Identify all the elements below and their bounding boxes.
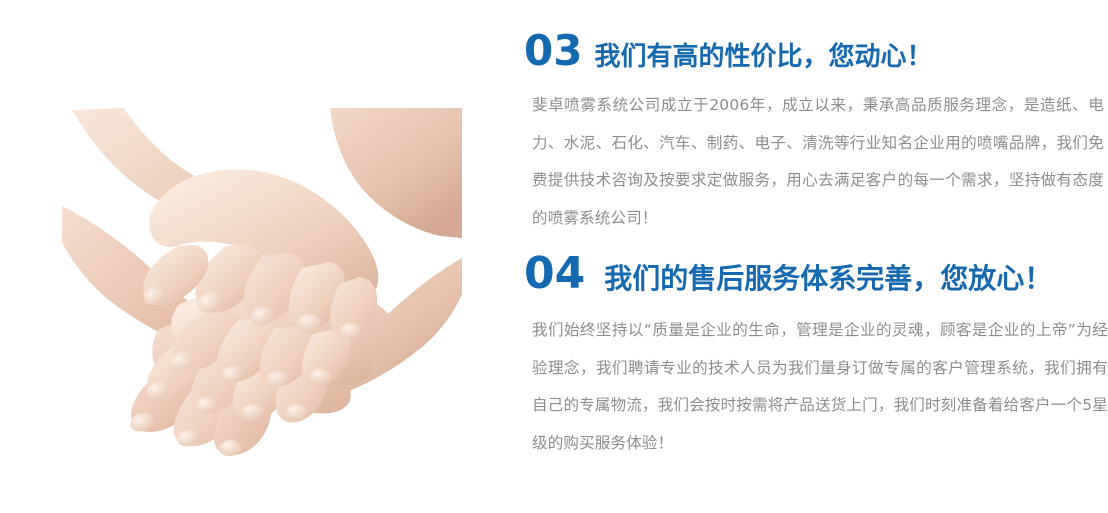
feature-title-04: 我们的售后服务体系完善，您放心！: [604, 265, 1052, 293]
promo-banner: 03 我们有高的性价比，您动心！ 斐卓喷雾系统公司成立于2006年，成立以来，秉…: [0, 0, 1108, 513]
feature-heading-04: 04 我们的售后服务体系完善，您放心！: [524, 252, 1108, 296]
feature-section-04: 04 我们的售后服务体系完善，您放心！ 我们始终坚持以“质量是企业的生命，管理是…: [524, 252, 1108, 462]
feature-section-03: 03 我们有高的性价比，您动心！ 斐卓喷雾系统公司成立于2006年，成立以来，秉…: [524, 30, 1108, 237]
teamwork-hands-photo: [62, 108, 462, 468]
content-panel: 03 我们有高的性价比，您动心！ 斐卓喷雾系统公司成立于2006年，成立以来，秉…: [524, 0, 1108, 513]
photo-panel: [0, 0, 500, 513]
feature-title-03: 我们有高的性价比，您动心！: [594, 44, 932, 70]
feature-heading-03: 03 我们有高的性价比，您动心！: [524, 30, 1108, 72]
feature-body-03: 斐卓喷雾系统公司成立于2006年，成立以来，秉承高品质服务理念，是造纸、电力、水…: [532, 87, 1104, 237]
feature-body-04: 我们始终坚持以“质量是企业的生命，管理是企业的灵魂，顾客是企业的上帝”为经验理念…: [532, 312, 1108, 462]
feature-number-04: 04: [524, 252, 585, 296]
feature-number-03: 03: [524, 30, 582, 72]
hands-illustration: [62, 108, 462, 468]
